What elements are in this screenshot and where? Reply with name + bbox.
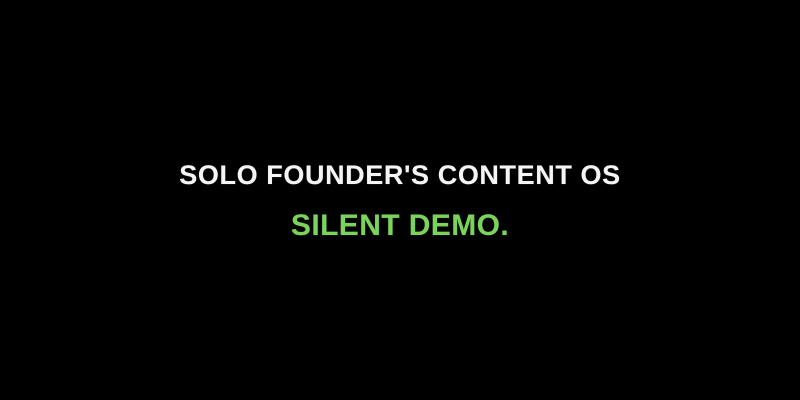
title-text-block: SOLO FOUNDER'S CONTENT OS SILENT DEMO. <box>0 160 800 242</box>
title-card: SOLO FOUNDER'S CONTENT OS SILENT DEMO. <box>0 0 800 400</box>
subline-text: SILENT DEMO. <box>291 210 509 242</box>
headline-text: SOLO FOUNDER'S CONTENT OS <box>179 160 620 190</box>
